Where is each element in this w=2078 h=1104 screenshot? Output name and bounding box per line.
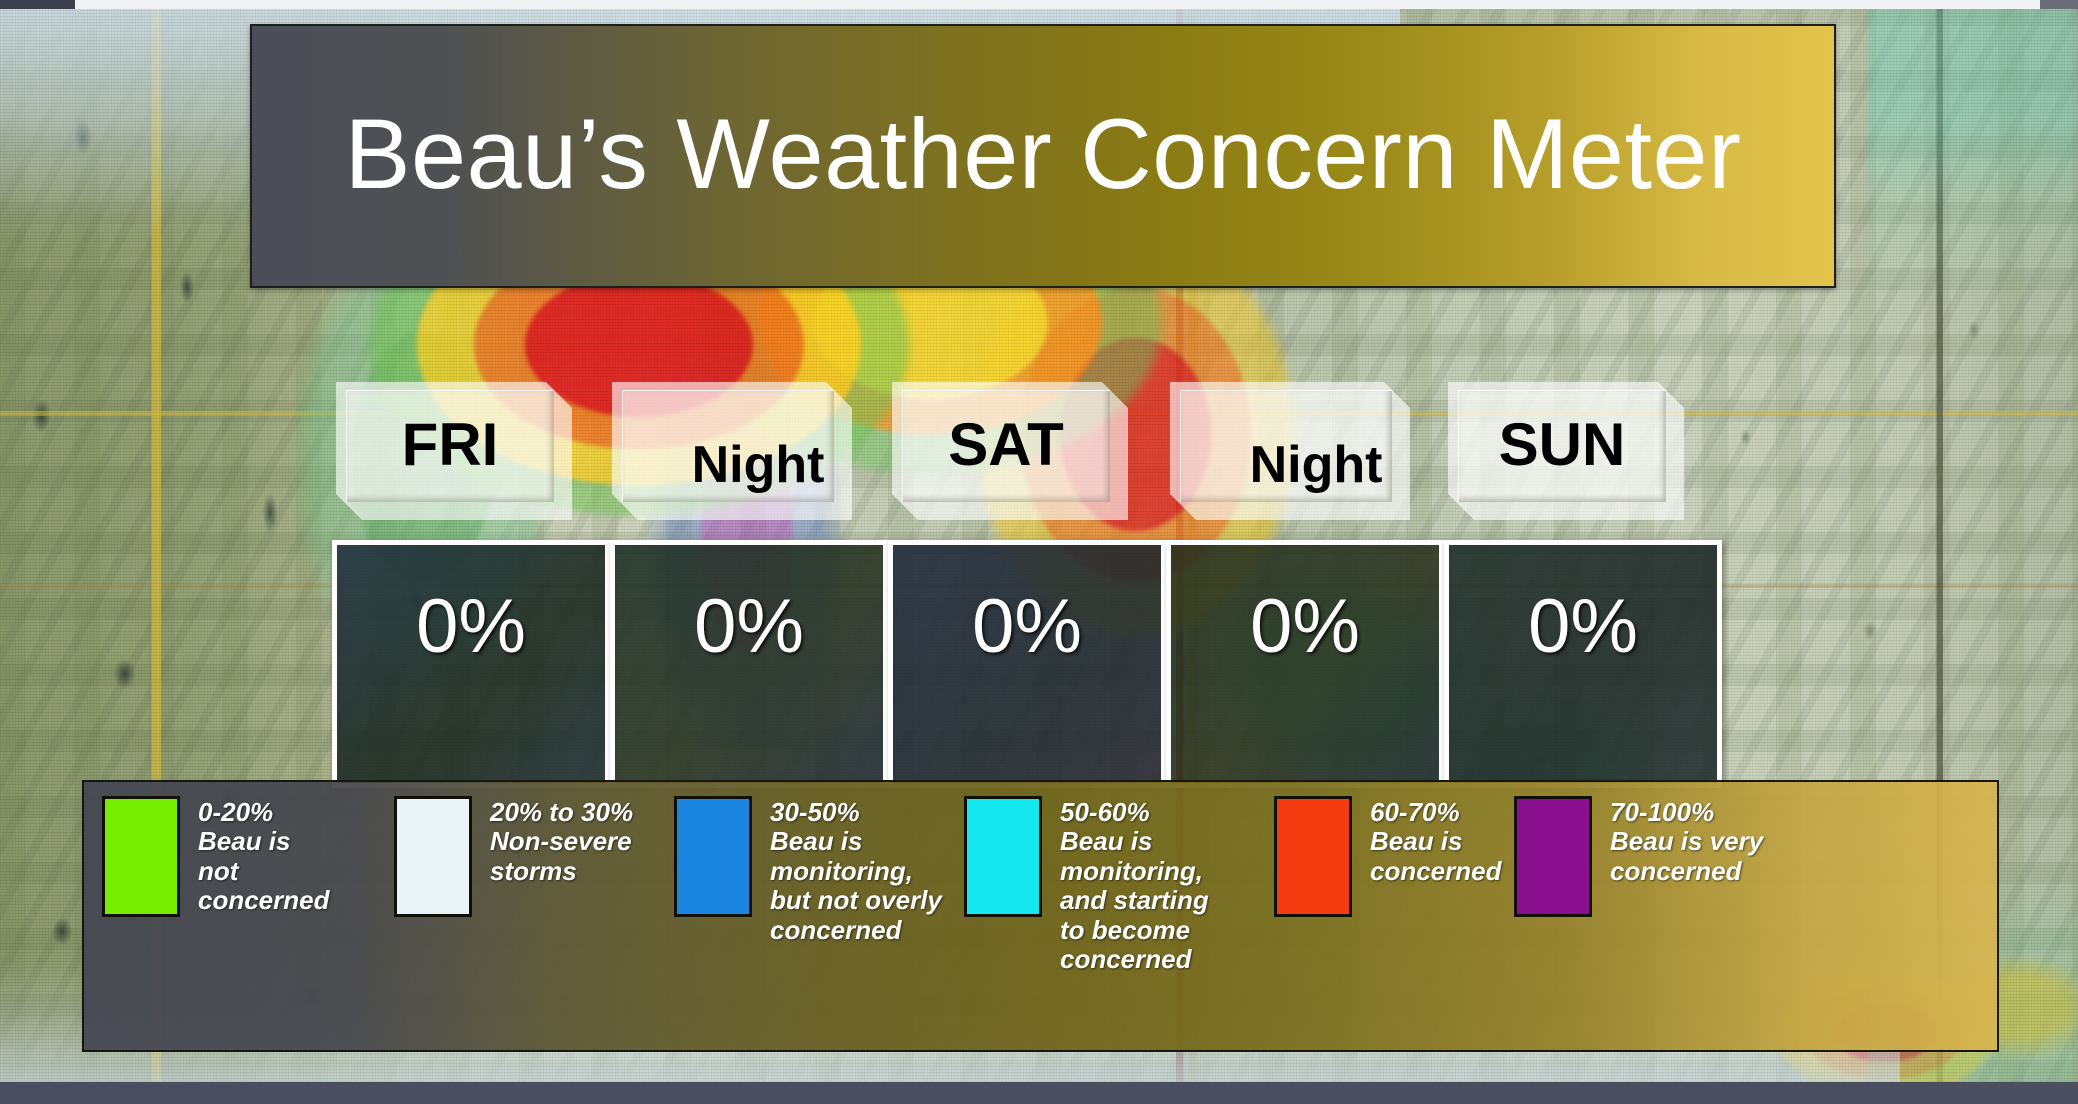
- legend-label: 50-60%Beau is monitoring, and starting t…: [1060, 796, 1209, 974]
- top-chrome-strip: [0, 0, 2078, 9]
- legend-description: Beau is concerned: [1370, 827, 1502, 886]
- legend-color-swatch: [1274, 796, 1352, 917]
- legend-color-swatch: [102, 796, 180, 917]
- legend-label: 0-20%Beau is not concerned: [198, 796, 330, 916]
- day-tab-1[interactable]: FRI: [336, 382, 572, 520]
- concern-percent-box-1[interactable]: 0%: [332, 540, 610, 788]
- legend-range: 20% to 30%: [490, 798, 633, 827]
- legend-label: 20% to 30%Non-severe storms: [490, 796, 633, 886]
- concern-percent-value: 0%: [337, 583, 605, 670]
- legend-range: 70-100%: [1610, 798, 1763, 827]
- title-banner: Beau’s Weather Concern Meter: [250, 24, 1836, 288]
- legend-label: 30-50%Beau is monitoring, but not overly…: [770, 796, 942, 945]
- concern-legend-panel: 0-20%Beau is not concerned20% to 30%Non-…: [82, 780, 1999, 1052]
- concern-percent-box-3[interactable]: 0%: [888, 540, 1166, 788]
- legend-item-4: 50-60%Beau is monitoring, and starting t…: [964, 796, 1209, 974]
- legend-item-6: 70-100%Beau is very concerned: [1514, 796, 1763, 917]
- legend-description: Beau is monitoring, but not overly conce…: [770, 827, 942, 945]
- concern-percent-value: 0%: [1171, 583, 1439, 670]
- day-tab-3[interactable]: SAT: [892, 382, 1128, 520]
- day-tab-2[interactable]: Night: [612, 382, 852, 520]
- legend-item-2: 20% to 30%Non-severe storms: [394, 796, 633, 917]
- legend-description: Non-severe storms: [490, 827, 633, 886]
- legend-range: 60-70%: [1370, 798, 1502, 827]
- bottom-chrome-strip: [0, 1082, 2078, 1104]
- day-tab-label: Night: [1250, 439, 1383, 491]
- legend-range: 30-50%: [770, 798, 942, 827]
- concern-percent-value: 0%: [893, 583, 1161, 670]
- legend-item-3: 30-50%Beau is monitoring, but not overly…: [674, 796, 942, 945]
- legend-description: Beau is monitoring, and starting to beco…: [1060, 827, 1209, 974]
- concern-percent-box-2[interactable]: 0%: [610, 540, 888, 788]
- legend-color-swatch: [394, 796, 472, 917]
- day-tab-label: SAT: [948, 415, 1064, 475]
- concern-percent-value: 0%: [1449, 583, 1717, 670]
- legend-range: 0-20%: [198, 798, 330, 827]
- slide-canvas: Beau’s Weather Concern Meter FRINightSAT…: [0, 0, 2078, 1104]
- legend-item-1: 0-20%Beau is not concerned: [102, 796, 330, 917]
- top-strip-right-block: [2040, 0, 2078, 9]
- concern-percent-box-5[interactable]: 0%: [1444, 540, 1722, 788]
- day-tab-5[interactable]: SUN: [1448, 382, 1684, 520]
- page-title: Beau’s Weather Concern Meter: [344, 97, 1741, 211]
- top-strip-left-block: [0, 0, 75, 9]
- legend-label: 60-70%Beau is concerned: [1370, 796, 1502, 886]
- legend-description: Beau is not concerned: [198, 827, 330, 915]
- legend-color-swatch: [674, 796, 752, 917]
- legend-description: Beau is very concerned: [1610, 827, 1763, 886]
- day-tab-4[interactable]: Night: [1170, 382, 1410, 520]
- legend-color-swatch: [1514, 796, 1592, 917]
- legend-label: 70-100%Beau is very concerned: [1610, 796, 1763, 886]
- day-tab-label: FRI: [402, 415, 499, 475]
- day-tab-label: SUN: [1499, 415, 1626, 475]
- legend-range: 50-60%: [1060, 798, 1209, 827]
- legend-color-swatch: [964, 796, 1042, 917]
- concern-percent-box-4[interactable]: 0%: [1166, 540, 1444, 788]
- day-tab-label: Night: [692, 439, 825, 491]
- legend-item-5: 60-70%Beau is concerned: [1274, 796, 1502, 917]
- concern-percent-value: 0%: [615, 583, 883, 670]
